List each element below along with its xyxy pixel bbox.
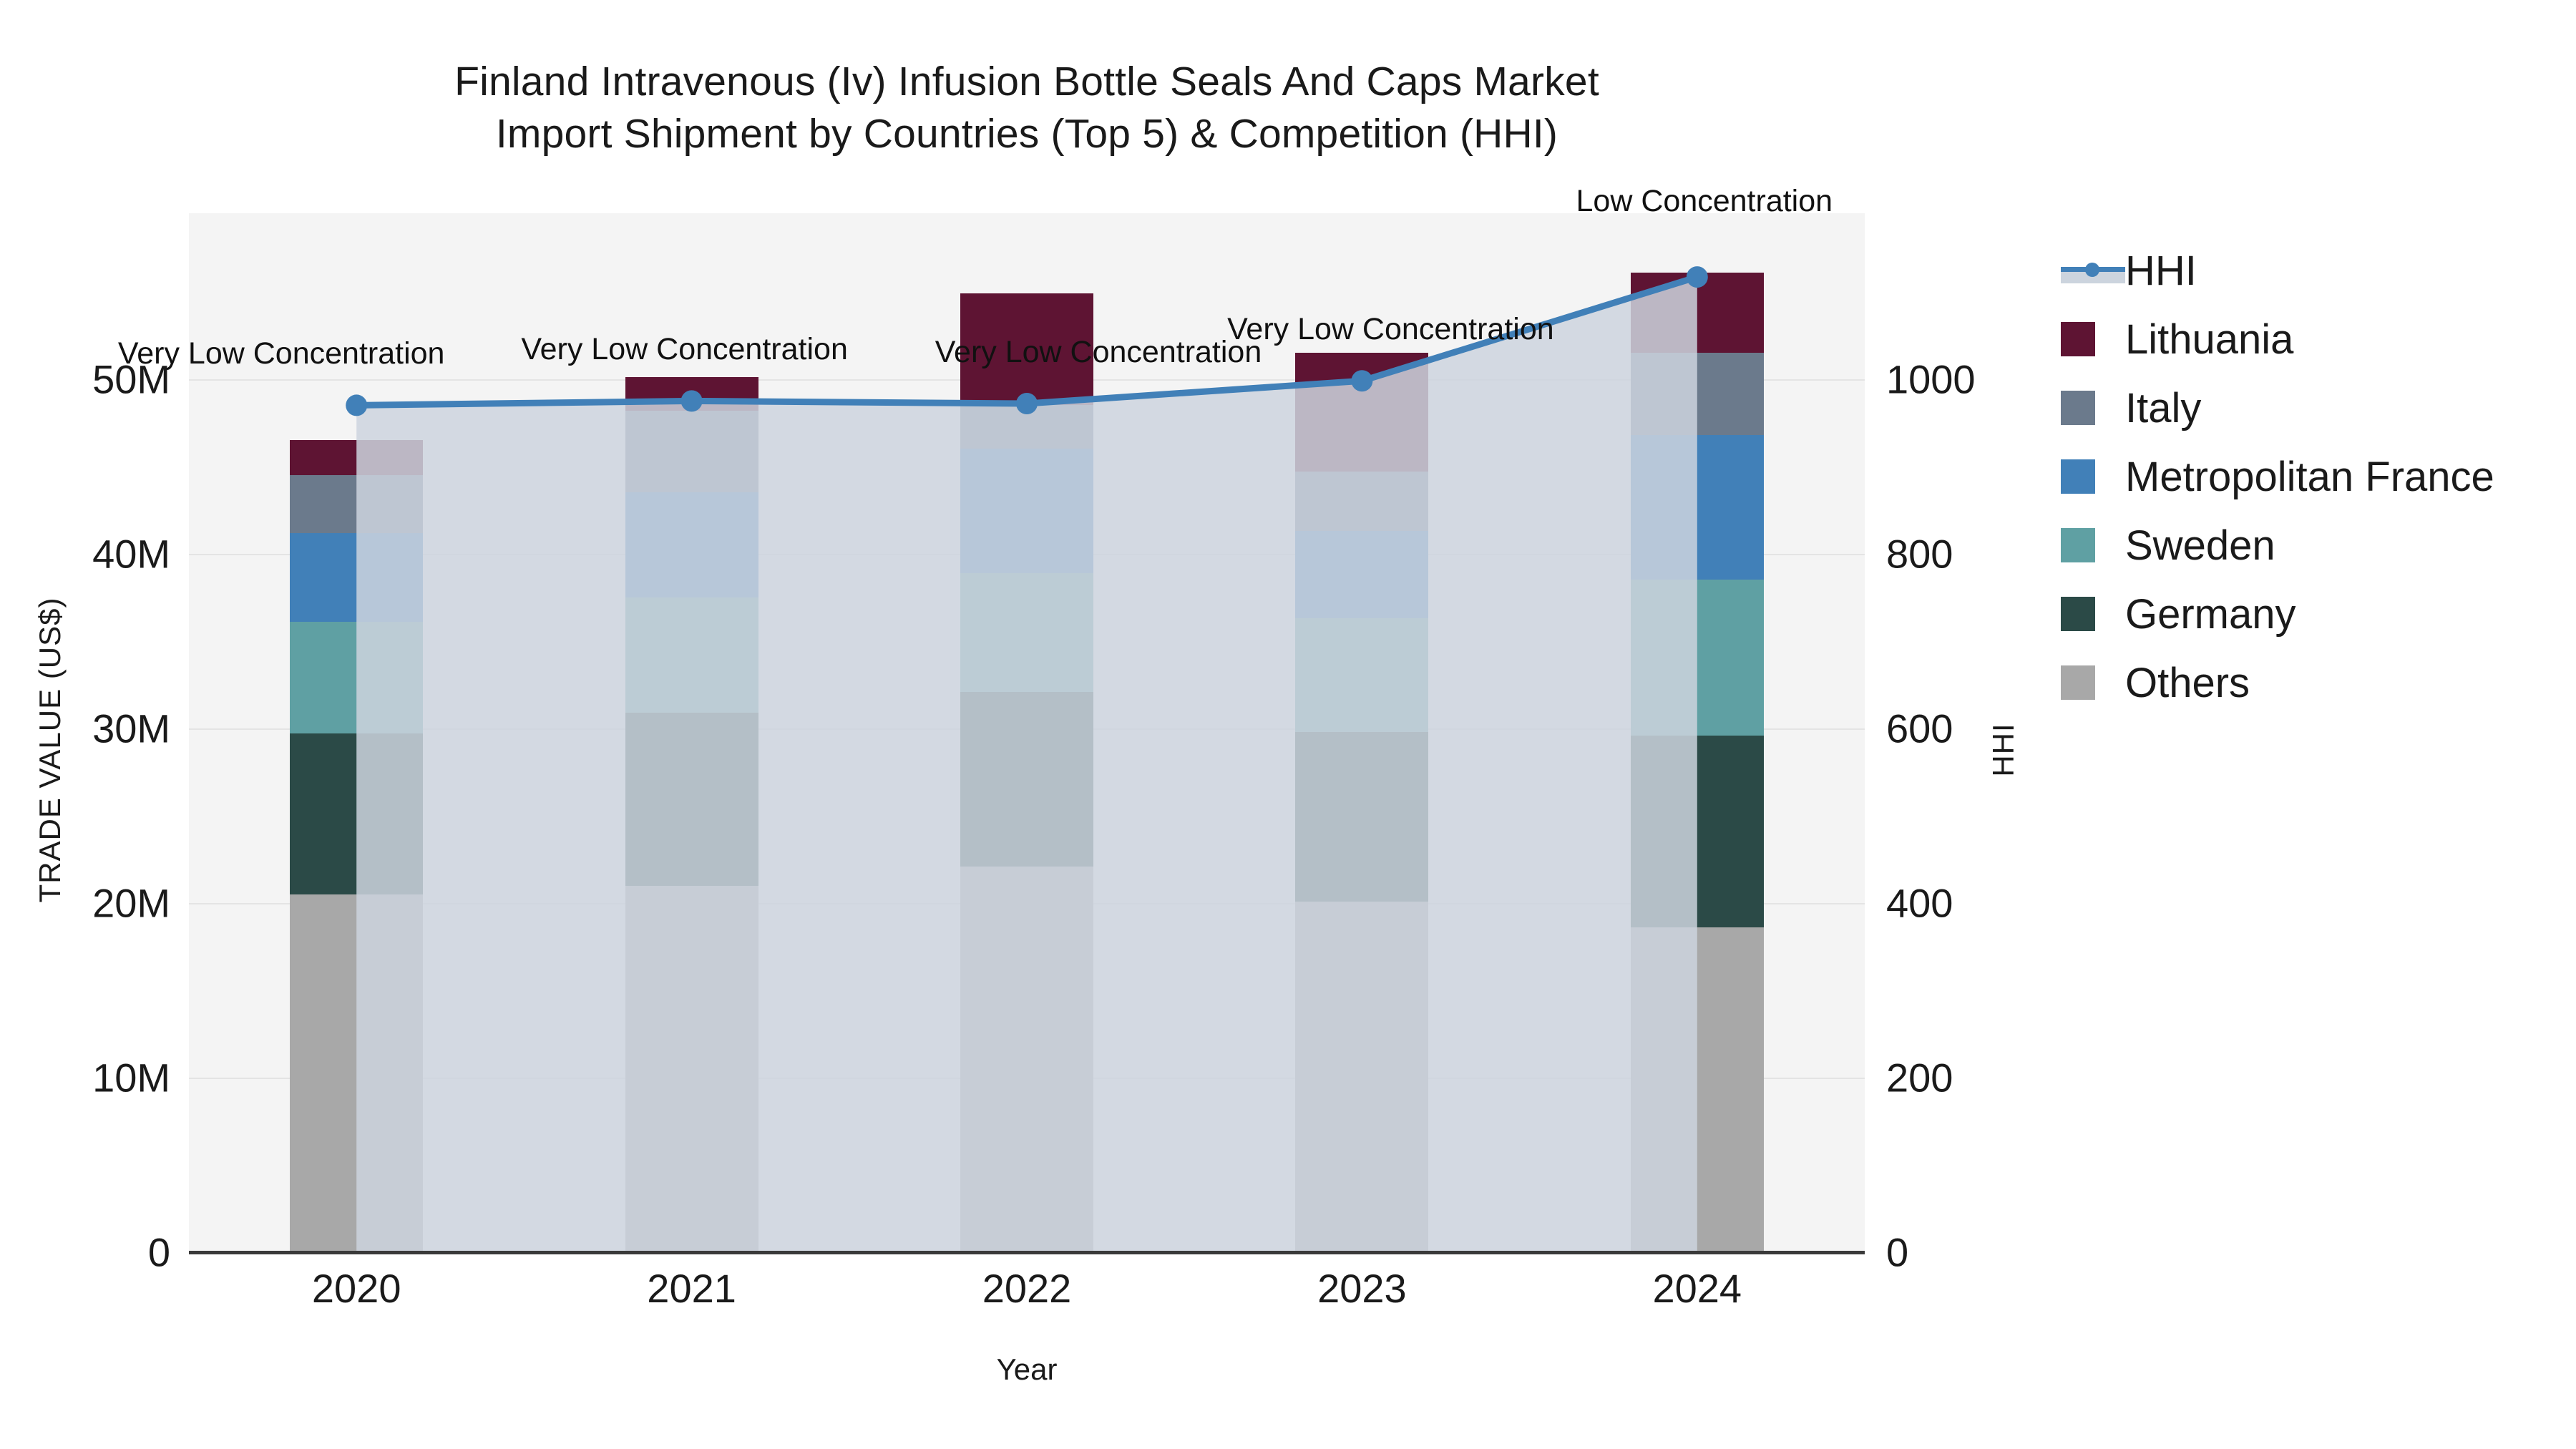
concentration-annotation: Very Low Concentration	[935, 335, 1262, 370]
legend-item-lithuania[interactable]: Lithuania	[2061, 305, 2562, 374]
plot-area: Very Low ConcentrationVery Low Concentra…	[189, 213, 1865, 1252]
concentration-annotation: Very Low Concentration	[1227, 312, 1554, 347]
legend-label: Sweden	[2125, 522, 2275, 570]
hhi-marker[interactable]	[346, 394, 367, 416]
y-tick-right: 800	[1886, 530, 2072, 577]
x-tick-2024: 2024	[1583, 1265, 1812, 1312]
hhi-area-fill	[356, 277, 1697, 1252]
y-tick-right: 1000	[1886, 356, 2072, 402]
hhi-marker[interactable]	[1687, 266, 1708, 288]
y-tick-left: 20M	[6, 879, 170, 926]
legend-label: Germany	[2125, 590, 2296, 638]
legend-label: Others	[2125, 659, 2250, 707]
hhi-marker[interactable]	[1351, 370, 1372, 391]
legend-item-italy[interactable]: Italy	[2061, 374, 2562, 442]
chart-legend: HHILithuaniaItalyMetropolitan FranceSwed…	[2061, 236, 2562, 717]
legend-swatch-icon	[2061, 459, 2095, 494]
y-tick-left: 0	[6, 1229, 170, 1276]
legend-item-sweden[interactable]: Sweden	[2061, 511, 2562, 580]
y-tick-right: 600	[1886, 705, 2072, 751]
legend-swatch-icon	[2061, 528, 2095, 562]
hhi-marker[interactable]	[681, 390, 703, 411]
legend-swatch-icon	[2061, 665, 2095, 700]
y-tick-left: 50M	[6, 356, 170, 402]
x-axis-label: Year	[189, 1352, 1865, 1387]
legend-item-metropolitan-france[interactable]: Metropolitan France	[2061, 442, 2562, 511]
y-tick-left: 10M	[6, 1054, 170, 1101]
legend-line-icon	[2061, 253, 2125, 288]
legend-item-others[interactable]: Others	[2061, 648, 2562, 717]
chart-title: Finland Intravenous (Iv) Infusion Bottle…	[0, 56, 2054, 160]
legend-swatch-icon	[2061, 322, 2095, 356]
concentration-annotation: Low Concentration	[1576, 184, 1833, 219]
legend-swatch-icon	[2061, 597, 2095, 631]
y-tick-right: 400	[1886, 879, 2072, 926]
concentration-annotation: Very Low Concentration	[521, 332, 848, 367]
x-tick-2021: 2021	[577, 1265, 806, 1312]
y-tick-right: 0	[1886, 1229, 2072, 1276]
x-tick-2022: 2022	[912, 1265, 1141, 1312]
legend-item-germany[interactable]: Germany	[2061, 580, 2562, 648]
x-axis-line	[189, 1251, 1865, 1254]
legend-swatch-icon	[2061, 391, 2095, 425]
x-tick-2020: 2020	[242, 1265, 471, 1312]
y-tick-left: 40M	[6, 530, 170, 577]
legend-label: Metropolitan France	[2125, 453, 2494, 501]
legend-label: Lithuania	[2125, 316, 2293, 364]
legend-label: Italy	[2125, 384, 2201, 432]
legend-item-hhi[interactable]: HHI	[2061, 236, 2562, 305]
y-tick-right: 200	[1886, 1054, 2072, 1101]
x-tick-2023: 2023	[1247, 1265, 1476, 1312]
hhi-marker[interactable]	[1016, 393, 1038, 414]
legend-label: HHI	[2125, 247, 2197, 295]
y-tick-left: 30M	[6, 705, 170, 751]
